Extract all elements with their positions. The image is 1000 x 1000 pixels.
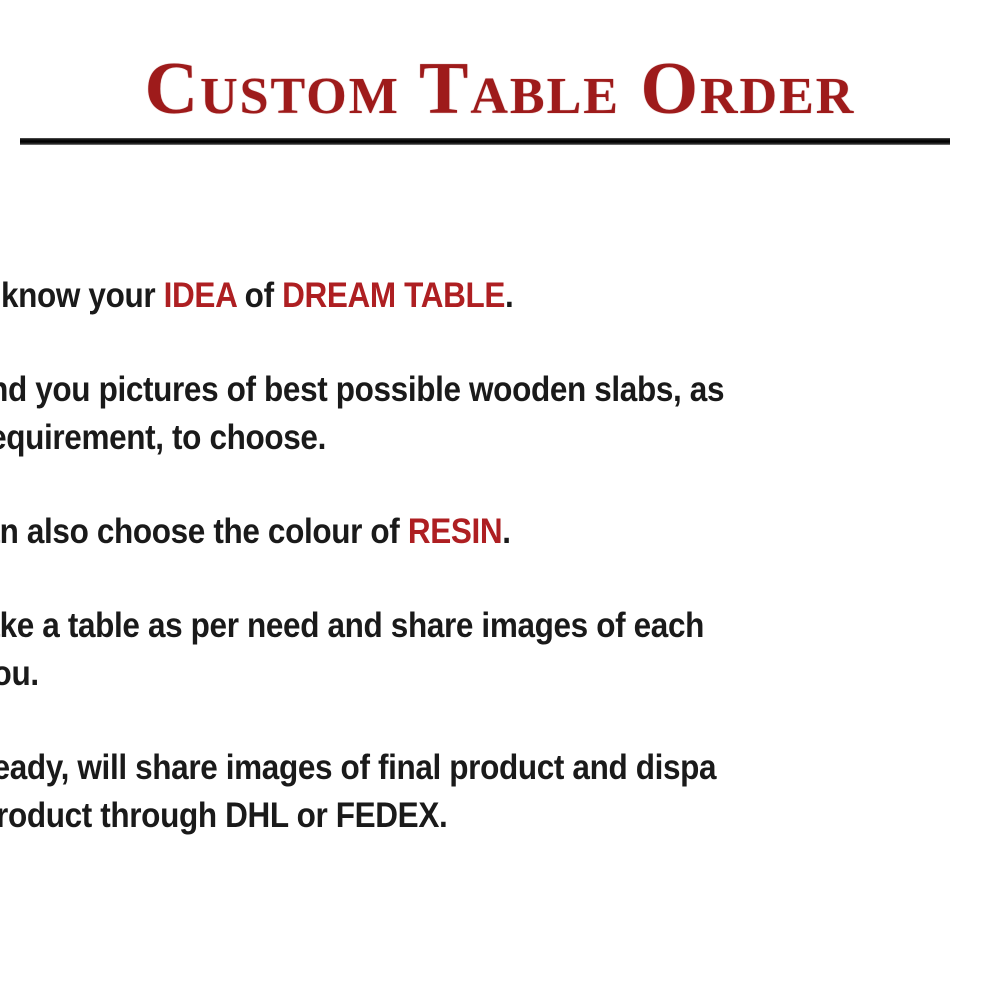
text-run: l make a table as per need and share ima… <box>0 606 704 645</box>
instruction-line: l make a table as per need and share ima… <box>0 602 946 650</box>
text-run: ur product through DHL or FEDEX. <box>0 796 447 835</box>
instruction-paragraph-dispatch: ce ready, will share images of final pro… <box>0 744 946 840</box>
instruction-paragraph-idea: t us know your IDEA of DREAM TABLE. <box>0 272 946 320</box>
text-run: . <box>502 512 510 551</box>
text-run: . <box>505 276 513 315</box>
text-run: u can also choose the colour of <box>0 512 408 551</box>
instruction-line: ur requirement, to choose. <box>0 414 946 462</box>
text-run: l send you pictures of best possible woo… <box>0 370 724 409</box>
page-title: Custom Table Order <box>0 52 1000 126</box>
text-run: ur requirement, to choose. <box>0 418 326 457</box>
instruction-line: t us know your IDEA of DREAM TABLE. <box>0 272 946 320</box>
highlighted-term: DREAM TABLE <box>282 276 505 315</box>
instruction-line: l send you pictures of best possible woo… <box>0 366 946 414</box>
text-run: ce ready, will share images of final pro… <box>0 748 716 787</box>
instruction-line: th you. <box>0 650 946 698</box>
title-block: Custom Table Order <box>0 52 1000 126</box>
custom-table-order-page: Custom Table Order t us know your IDEA o… <box>0 0 1000 1000</box>
text-run: th you. <box>0 654 39 693</box>
instruction-paragraph-resin: u can also choose the colour of RESIN. <box>0 508 946 556</box>
instruction-paragraph-slabs: l send you pictures of best possible woo… <box>0 366 946 462</box>
instruction-line: u can also choose the colour of RESIN. <box>0 508 946 556</box>
title-divider-rule <box>20 138 950 145</box>
text-run: of <box>236 276 282 315</box>
text-run: t us know your <box>0 276 164 315</box>
instruction-paragraph-make-table: l make a table as per need and share ima… <box>0 602 946 698</box>
instruction-line: ce ready, will share images of final pro… <box>0 744 946 792</box>
instruction-line: ur product through DHL or FEDEX. <box>0 792 946 840</box>
highlighted-term: RESIN <box>408 512 502 551</box>
highlighted-term: IDEA <box>164 276 237 315</box>
instructions-list: t us know your IDEA of DREAM TABLE.l sen… <box>0 272 1000 840</box>
